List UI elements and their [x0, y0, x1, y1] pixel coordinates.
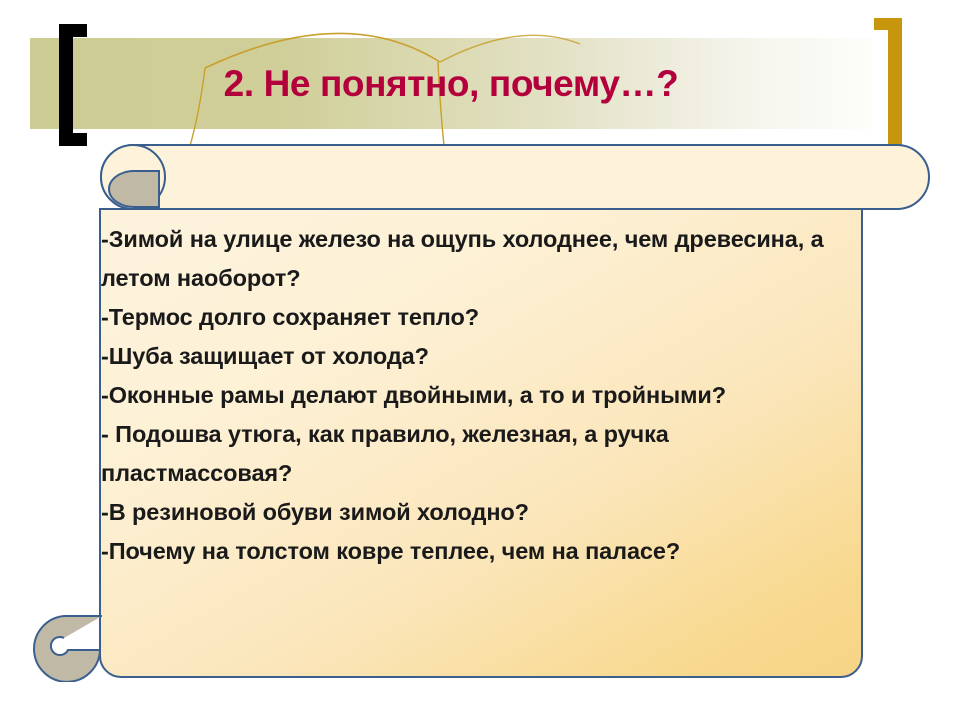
- list-item: -Зимой на улице железо на ощупь холоднее…: [101, 220, 841, 298]
- list-item: -Шуба защищает от холода?: [101, 337, 841, 376]
- scroll-top-curl-inner-icon: [108, 170, 160, 208]
- list-item: -Оконные рамы делают двойными, а то и тр…: [101, 376, 841, 415]
- list-item: - Подошва утюга, как правило, железная, …: [101, 415, 841, 493]
- scroll-bottom-curl-icon: [20, 612, 106, 682]
- list-item: -Термос долго сохраняет тепло?: [101, 298, 841, 337]
- slide-canvas: 2. Не понятно, почему…? -Зимой на улице …: [0, 0, 960, 720]
- scroll-text-block: -Зимой на улице железо на ощупь холоднее…: [101, 220, 841, 571]
- page-title: 2. Не понятно, почему…?: [30, 38, 872, 129]
- list-item: -Почему на толстом ковре теплее, чем на …: [101, 532, 841, 571]
- bracket-right-icon: [874, 18, 902, 146]
- list-item: -В резиновой обуви зимой холодно?: [101, 493, 841, 532]
- scroll-top-roll: [100, 144, 930, 210]
